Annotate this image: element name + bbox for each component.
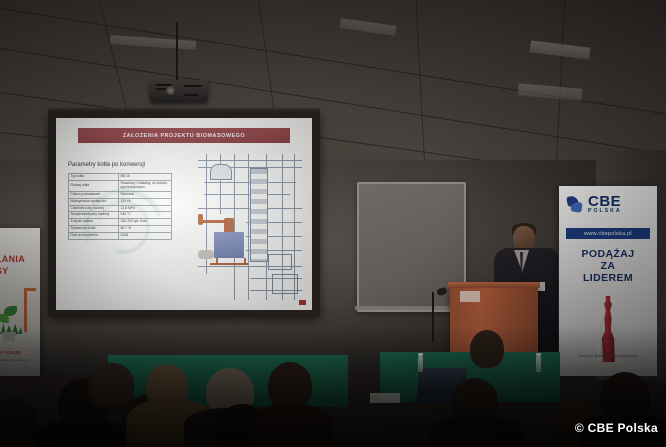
- bottle-cap: [536, 353, 541, 356]
- slide-corner-logo: [299, 300, 306, 305]
- conference-room-photo: ZAŁOŻENIA PROJEKTU BIOMASOWEGO Parametry…: [0, 0, 666, 447]
- table-cell-value: 150-200 tys. t/rok: [119, 219, 172, 226]
- parameters-table: Typ kotłaBB 15Rodzaj kotłaRusztowy / flu…: [68, 173, 172, 240]
- table-cell-value: 86,7 %: [119, 226, 172, 233]
- audience-head: [470, 330, 504, 368]
- projector-mount-pole: [176, 22, 178, 84]
- audience-head: [0, 398, 38, 446]
- bottle-cap: [418, 353, 423, 356]
- paper-sheet: [370, 393, 400, 403]
- table-cell-label: Ciśnienie pary świeżej: [69, 205, 119, 212]
- table-cell-value: 2008: [119, 233, 172, 240]
- slide-title: ZAŁOŻENIA PROJEKTU BIOMASOWEGO: [123, 133, 245, 139]
- table-cell-value: 13,8 MPa: [119, 205, 172, 212]
- slide-subtitle: Parametry kotła po konwersji: [68, 162, 145, 168]
- podium-sign: [460, 291, 480, 302]
- audience-head: [92, 363, 134, 405]
- table-cell-value: Biomasa: [119, 191, 172, 198]
- microphone-stand: [432, 292, 434, 342]
- copyright-watermark: © CBE Polska: [575, 421, 658, 435]
- table-row: Maksymalna wydajność120 t/h: [69, 198, 172, 205]
- table-row: Rok uruchomienia2008: [69, 233, 172, 240]
- table-cell-value: BB 15: [119, 174, 172, 181]
- table-cell-label: Sprawność kotła: [69, 226, 119, 233]
- table-cell-label: Temperatura pary świeżej: [69, 212, 119, 219]
- table-cell-label: Maksymalna wydajność: [69, 198, 119, 205]
- table-cell-value: Rusztowy / fluidalny, ze złożem pęcherzy…: [119, 180, 172, 191]
- audience-shoulders: [252, 404, 332, 447]
- table-row: Sprawność kotła86,7 %: [69, 226, 172, 233]
- ceiling-projector: [150, 80, 208, 102]
- table-row: Temperatura pary świeżej540 °C: [69, 212, 172, 219]
- table-cell-label: Rodzaj kotła: [69, 180, 119, 191]
- table-cell-value: 120 t/h: [119, 198, 172, 205]
- table-row: Paliwo podstawoweBiomasa: [69, 191, 172, 198]
- audience-shoulders: [430, 416, 522, 447]
- audience-head: [268, 362, 312, 410]
- parameters-table-body: Typ kotłaBB 15Rodzaj kotłaRusztowy / flu…: [69, 174, 172, 240]
- table-cell-label: Rok uruchomienia: [69, 233, 119, 240]
- table-cell-label: Typ kotła: [69, 174, 119, 181]
- projection-screen: ZAŁOŻENIA PROJEKTU BIOMASOWEGO Parametry…: [56, 118, 312, 310]
- left-banner-shading: [0, 228, 40, 376]
- water-bottle: [536, 356, 541, 372]
- table-row: Rodzaj kotłaRusztowy / fluidalny, ze zło…: [69, 180, 172, 191]
- table-cell-value: 540 °C: [119, 212, 172, 219]
- presentation-slide: ZAŁOŻENIA PROJEKTU BIOMASOWEGO Parametry…: [56, 118, 312, 310]
- table-row: Typ kotłaBB 15: [69, 174, 172, 181]
- boiler-blueprint-figure: [198, 154, 302, 300]
- table-cell-label: Zużycie paliwa: [69, 219, 119, 226]
- table-cell-label: Paliwo podstawowe: [69, 191, 119, 198]
- audience-shoulders: [34, 420, 136, 447]
- banner-shading: [559, 186, 657, 376]
- water-bottle: [418, 356, 423, 372]
- slide-title-bar: ZAŁOŻENIA PROJEKTU BIOMASOWEGO: [78, 128, 290, 143]
- podium-top: [448, 282, 540, 288]
- projector-lens: [166, 86, 175, 95]
- table-row: Ciśnienie pary świeżej13,8 MPa: [69, 205, 172, 212]
- table-row: Zużycie paliwa150-200 tys. t/rok: [69, 219, 172, 226]
- whiteboard-marker-tray: [355, 306, 464, 310]
